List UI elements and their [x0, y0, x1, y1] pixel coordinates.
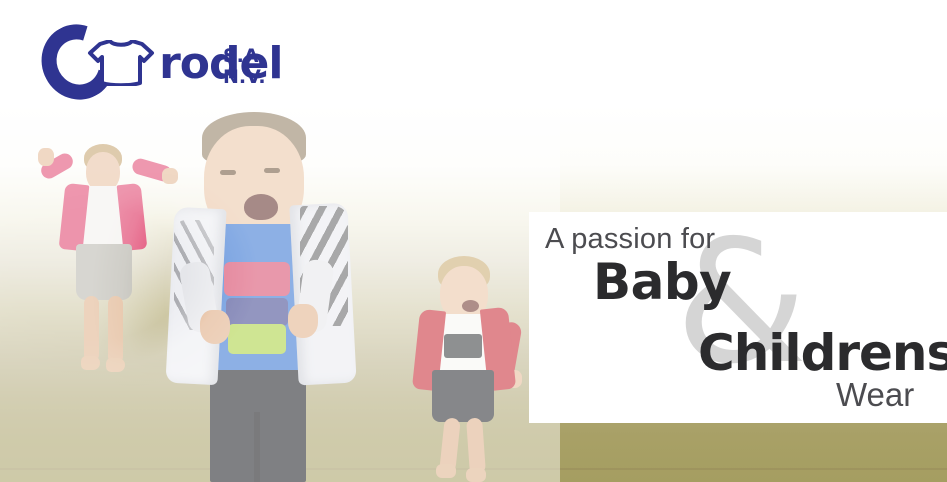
child-left-foot-left	[81, 356, 100, 370]
tagline-line-3: Childrens	[698, 325, 947, 381]
child-center-trousers-seam	[254, 412, 260, 482]
child-center	[140, 112, 420, 482]
child-center-eye-right	[264, 168, 280, 173]
child-center-tshirt-print-bottom	[228, 324, 286, 354]
child-center-fist-right	[288, 304, 318, 338]
tagline-line-4: Wear	[836, 377, 914, 413]
child-right-foot-left	[436, 464, 456, 478]
child-center-tshirt-print-top	[224, 262, 290, 296]
logo-legal-form-line1: S.A.	[223, 46, 266, 67]
child-left-foot-right	[106, 358, 125, 372]
child-center-tshirt-print-middle	[226, 298, 288, 326]
logo-legal-form-line2: N.V.	[223, 67, 266, 88]
tagline-line-1: A passion for	[545, 222, 715, 256]
child-right-leg-right	[466, 418, 486, 475]
tagline-line-2: Baby	[593, 254, 731, 310]
page-root: Arodel S.A. N.V.	[0, 0, 947, 482]
tagline-panel: & A passion for Baby Childrens Wear	[529, 212, 947, 423]
child-left-shorts	[76, 244, 132, 300]
child-left-leg-left	[84, 296, 99, 362]
child-left-leg-right	[108, 296, 123, 364]
child-right-skirt	[432, 370, 494, 422]
child-center-mouth	[244, 194, 278, 220]
hero-photo-children	[0, 104, 560, 482]
child-center-fist-left	[200, 310, 230, 344]
child-left-hand-left	[38, 148, 54, 166]
child-right-foot-right	[466, 468, 486, 482]
child-right-tshirt-print	[444, 334, 482, 358]
child-center-eye-left	[220, 170, 236, 175]
logo-legal-form: S.A. N.V.	[223, 46, 266, 88]
child-right-mouth	[462, 300, 479, 312]
brand-logo[interactable]: Arodel S.A. N.V.	[42, 22, 272, 102]
